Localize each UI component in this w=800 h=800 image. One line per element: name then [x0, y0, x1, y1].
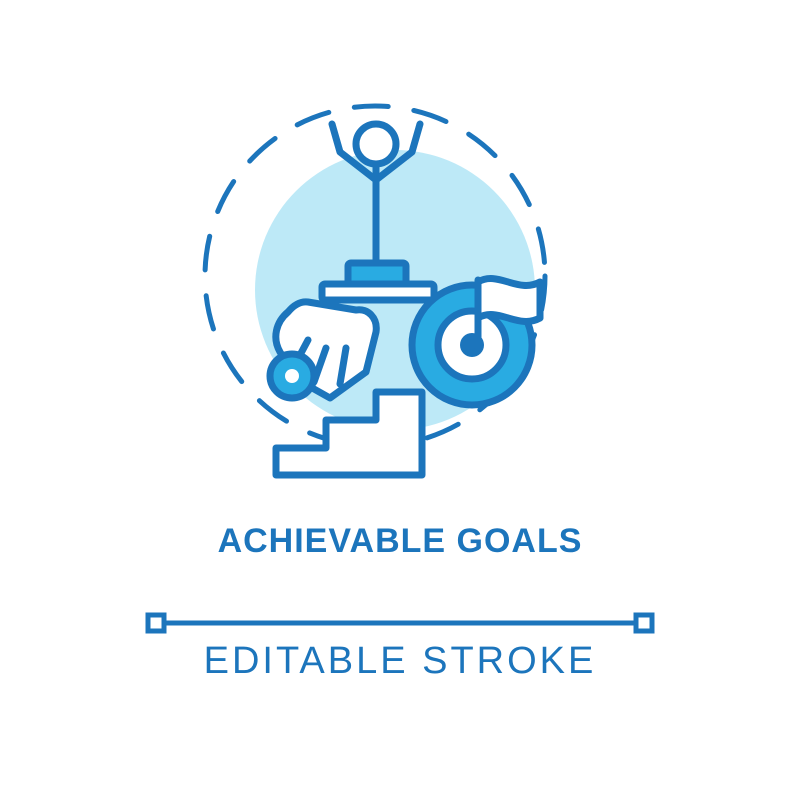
target-with-flag — [412, 279, 540, 405]
hand-accent-dot — [270, 354, 314, 398]
stroke-divider — [140, 608, 660, 638]
concept-icon-page: ACHIEVABLE GOALS EDITABLE STROKE — [0, 0, 800, 800]
achievable-goals-concept-illustration — [180, 80, 620, 510]
divider-right-square — [636, 615, 652, 631]
divider-left-square — [148, 615, 164, 631]
subtitle: EDITABLE STROKE — [0, 640, 800, 683]
page-title: ACHIEVABLE GOALS — [0, 522, 800, 561]
